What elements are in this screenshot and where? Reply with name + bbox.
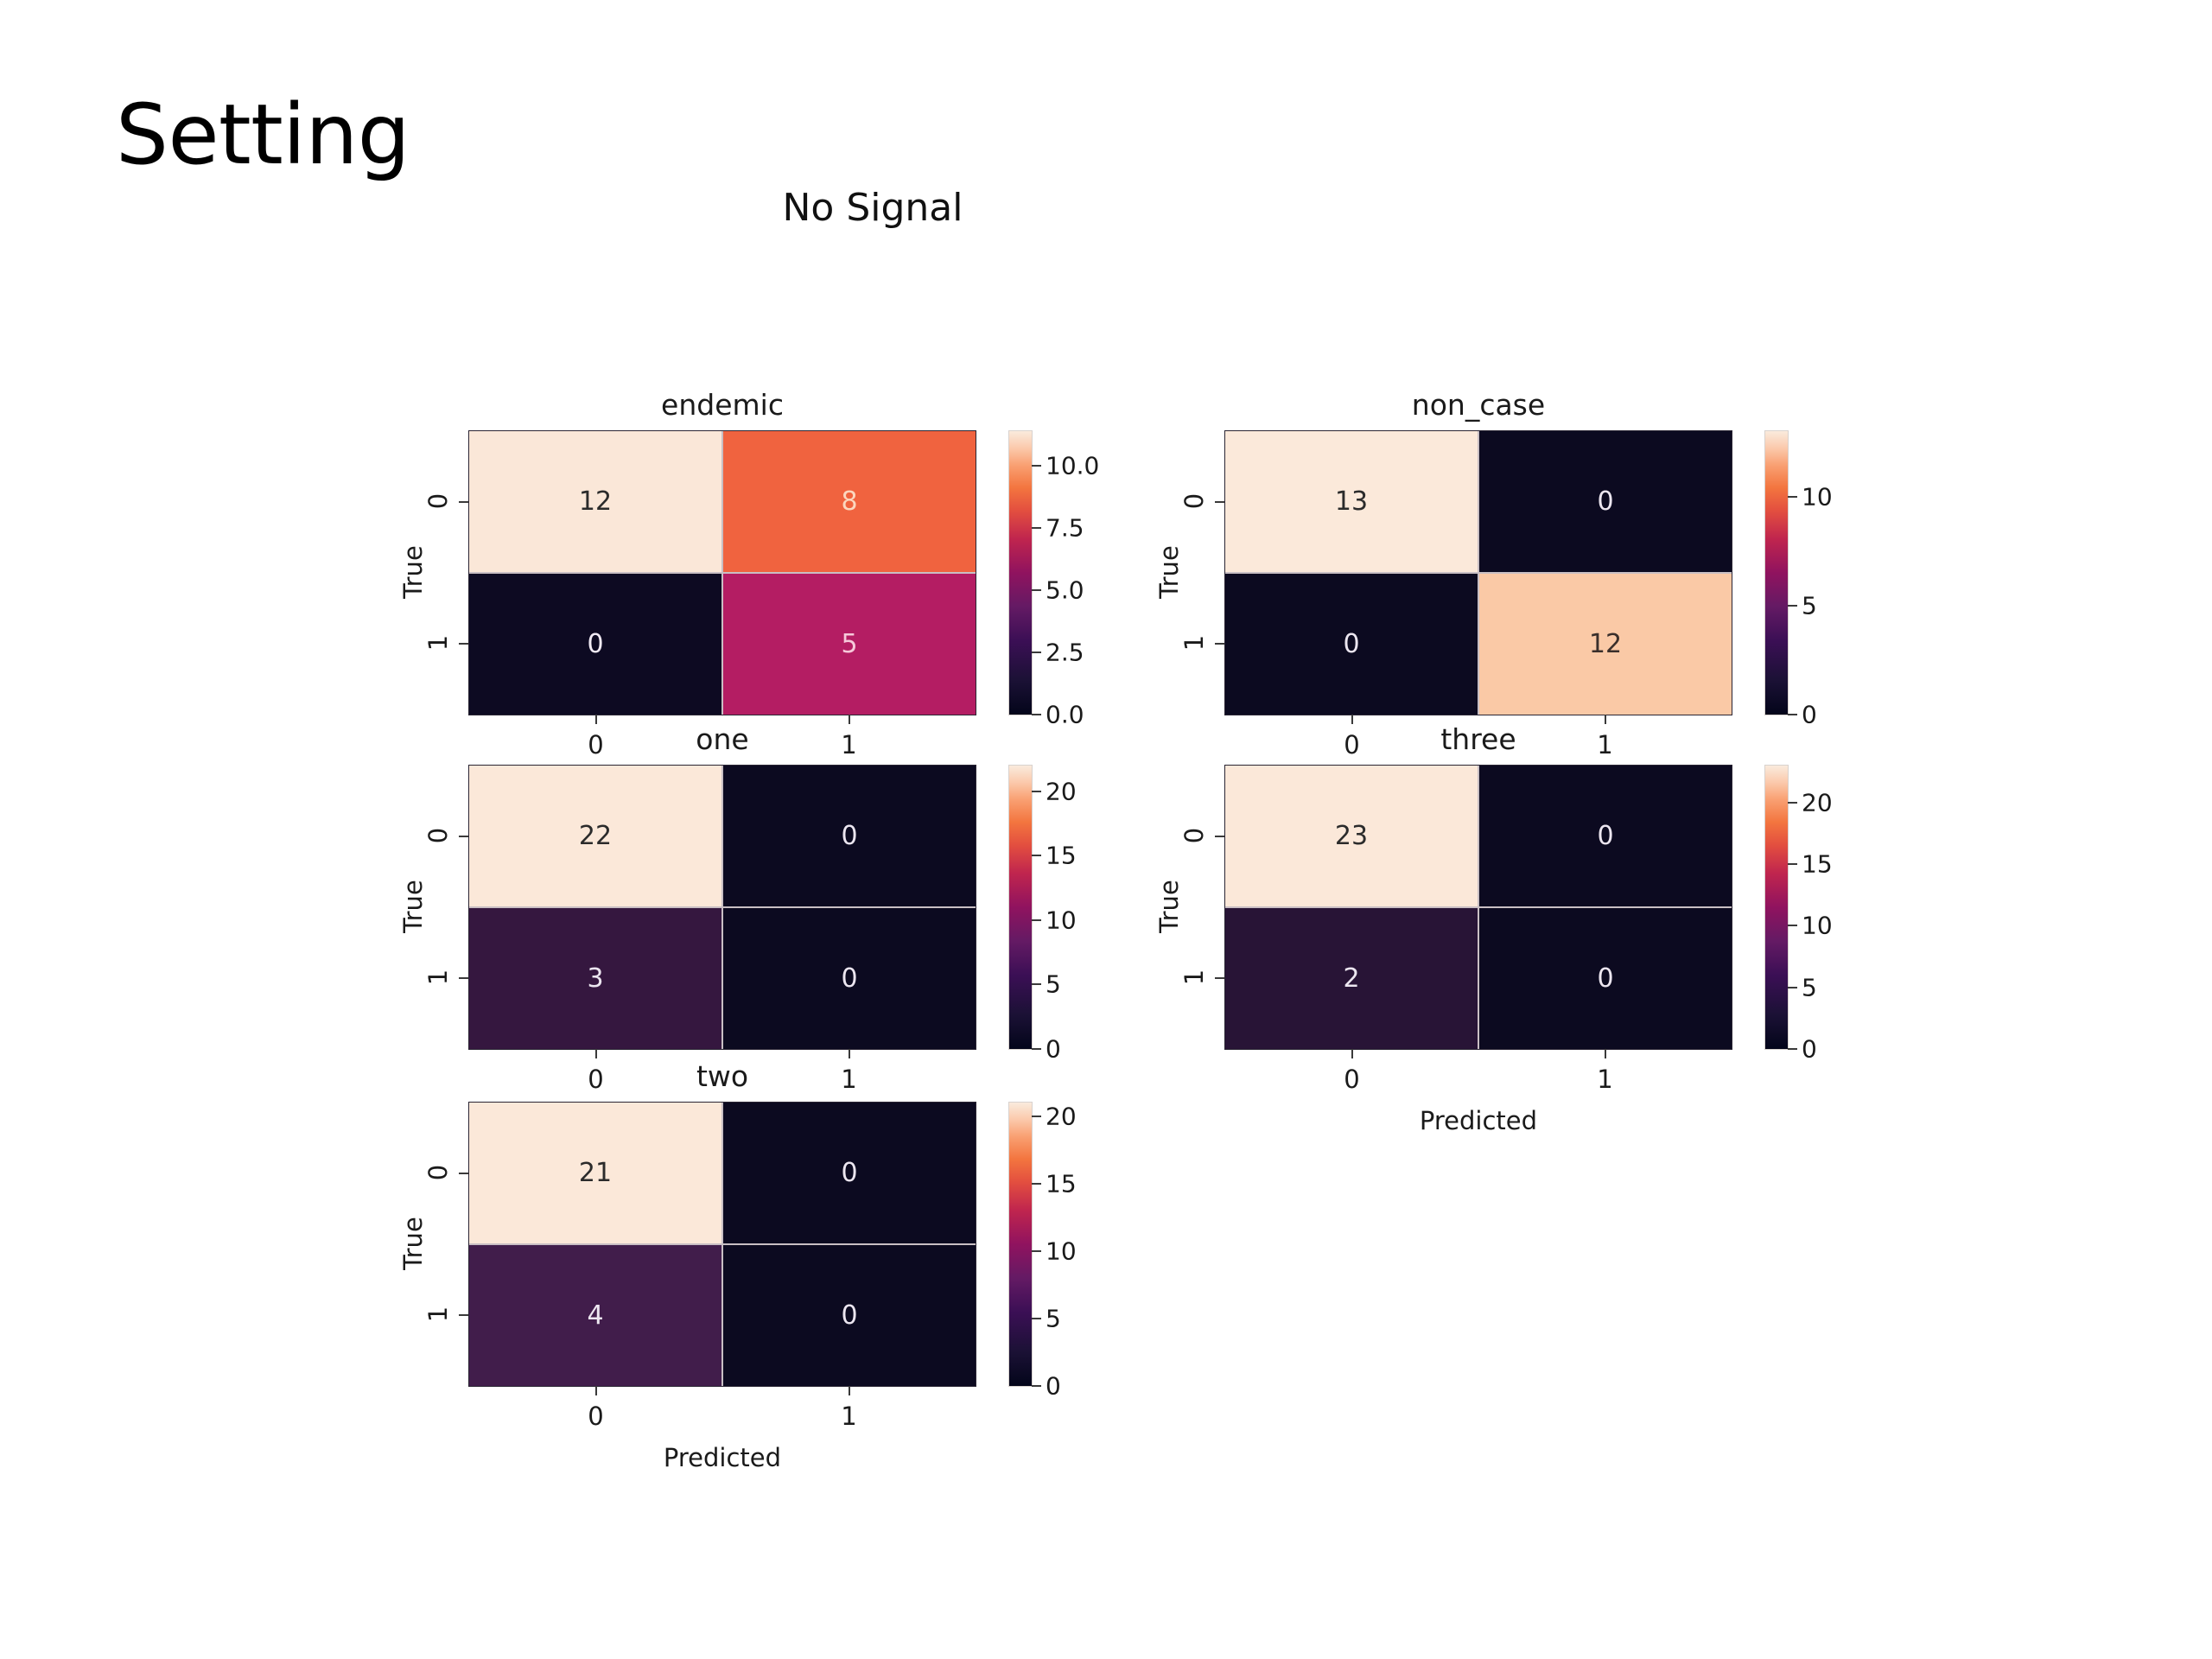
colorbar-tick-label-7.5: 7.5 xyxy=(1046,514,1084,543)
colorbar-tick-mark xyxy=(1032,983,1041,985)
colorbar-tick-mark xyxy=(1032,1116,1041,1117)
heatmap-panel-non_case: non_case13001201True01Predicted xyxy=(1225,431,1732,715)
colorbar-tick-label-5: 5 xyxy=(1046,1304,1061,1332)
heatmap-grid: 12805 xyxy=(469,431,976,715)
heatmap-cell-1-0: 0 xyxy=(469,574,721,715)
heatmap-cell-0-1: 0 xyxy=(723,766,976,906)
heatmap-cell-1-1: 12 xyxy=(1479,574,1732,715)
y-tick-label-1: 1 xyxy=(423,627,453,658)
y-tick-mark xyxy=(1215,977,1224,979)
y-axis-label: True xyxy=(398,520,428,624)
colorbar-tick-label-5.0: 5.0 xyxy=(1046,576,1084,605)
colorbar-tick-label-20: 20 xyxy=(1802,788,1833,817)
y-tick-mark xyxy=(459,836,468,837)
x-tick-label-0: 0 xyxy=(588,1402,603,1431)
colorbar-tick-mark xyxy=(1788,802,1797,804)
y-axis-label: True xyxy=(398,1192,428,1295)
colorbar-tick-mark xyxy=(1032,589,1041,591)
colorbar-tick-mark xyxy=(1032,465,1041,467)
heatmap-cell-0-1: 8 xyxy=(723,431,976,572)
heatmap-cell-0-0: 22 xyxy=(469,766,721,906)
x-tick-label-1: 1 xyxy=(841,1402,856,1431)
heatmap-panel-one: one2203001True01Predicted xyxy=(469,766,976,1049)
colorbar-tick-mark xyxy=(1788,1048,1797,1050)
y-axis-label: True xyxy=(1154,520,1184,624)
heatmap-grid: 23020 xyxy=(1225,766,1732,1049)
panel-title-three: three xyxy=(1225,722,1732,756)
colorbar-tick-label-20: 20 xyxy=(1046,1102,1077,1130)
colorbar-tick-mark xyxy=(1032,527,1041,529)
colorbar-tick-mark xyxy=(1032,919,1041,921)
panel-title-two: two xyxy=(469,1059,976,1093)
y-tick-label-1: 1 xyxy=(1179,962,1209,993)
colorbar-tick-label-10: 10 xyxy=(1802,482,1833,511)
colorbar-tick-label-0: 0 xyxy=(1802,1035,1817,1064)
colorbar-tick-label-10.0: 10.0 xyxy=(1046,452,1099,480)
heatmap-cell-1-0: 2 xyxy=(1225,908,1478,1049)
y-tick-mark xyxy=(459,1314,468,1316)
y-tick-mark xyxy=(459,1173,468,1174)
y-tick-mark xyxy=(1215,836,1224,837)
x-axis-label: Predicted xyxy=(469,1443,976,1472)
colorbar-tick-label-0.0: 0.0 xyxy=(1046,701,1084,729)
x-tick-mark xyxy=(595,1049,597,1058)
colorbar-tick-mark xyxy=(1788,605,1797,607)
heatmap-cell-1-1: 0 xyxy=(1479,908,1732,1049)
panel-title-one: one xyxy=(469,722,976,756)
colorbar-tick-mark xyxy=(1788,987,1797,988)
colorbar-tick-mark xyxy=(1032,1250,1041,1252)
y-axis-label: True xyxy=(398,855,428,958)
panel-title-non_case: non_case xyxy=(1225,388,1732,422)
y-tick-label-0: 0 xyxy=(423,1157,453,1188)
colorbar-tick-label-20: 20 xyxy=(1046,777,1077,805)
colorbar-endemic: 0.02.55.07.510.0 xyxy=(1009,431,1032,715)
y-tick-mark xyxy=(459,977,468,979)
heatmap-cell-1-1: 0 xyxy=(723,908,976,1049)
colorbar-tick-mark xyxy=(1032,1183,1041,1185)
confusion-matrix-figure: endemic1280501True01Predicted0.02.55.07.… xyxy=(0,0,2212,1659)
heatmap-cell-0-0: 23 xyxy=(1225,766,1478,906)
colorbar-three: 05101520 xyxy=(1765,766,1788,1049)
colorbar-tick-mark xyxy=(1032,1385,1041,1387)
heatmap-cell-0-1: 0 xyxy=(723,1103,976,1243)
x-tick-label-0: 0 xyxy=(1344,1065,1359,1094)
y-axis-label: True xyxy=(1154,855,1184,958)
colorbar-tick-mark xyxy=(1032,1048,1041,1050)
heatmap-cell-1-1: 5 xyxy=(723,574,976,715)
heatmap-cell-1-0: 3 xyxy=(469,908,721,1049)
colorbar-tick-mark xyxy=(1032,652,1041,653)
heatmap-cell-0-0: 21 xyxy=(469,1103,721,1243)
colorbar-tick-label-0: 0 xyxy=(1046,1035,1061,1064)
y-tick-mark xyxy=(459,501,468,503)
heatmap-cell-0-0: 12 xyxy=(469,431,721,572)
colorbar-tick-label-0: 0 xyxy=(1802,701,1817,729)
x-tick-mark xyxy=(849,1049,850,1058)
x-tick-label-1: 1 xyxy=(1597,1065,1612,1094)
colorbar-tick-mark xyxy=(1788,925,1797,926)
x-tick-mark xyxy=(849,1386,850,1395)
heatmap-grid: 22030 xyxy=(469,766,976,1049)
heatmap-cell-0-1: 0 xyxy=(1479,766,1732,906)
y-tick-label-1: 1 xyxy=(1179,627,1209,658)
y-tick-mark xyxy=(1215,501,1224,503)
heatmap-cell-1-1: 0 xyxy=(723,1245,976,1386)
colorbar-tick-label-0: 0 xyxy=(1046,1372,1061,1401)
heatmap-panel-endemic: endemic1280501True01Predicted xyxy=(469,431,976,715)
heatmap-grid: 21040 xyxy=(469,1103,976,1386)
y-tick-mark xyxy=(1215,643,1224,645)
x-tick-mark xyxy=(1605,1049,1606,1058)
colorbar-tick-label-5: 5 xyxy=(1802,973,1817,1001)
y-tick-mark xyxy=(459,643,468,645)
y-tick-label-0: 0 xyxy=(423,486,453,517)
x-axis-label: Predicted xyxy=(1225,1106,1732,1135)
y-tick-label-0: 0 xyxy=(1179,820,1209,851)
colorbar-tick-mark xyxy=(1032,1318,1041,1319)
colorbar-two: 05101520 xyxy=(1009,1103,1032,1386)
panel-title-endemic: endemic xyxy=(469,388,976,422)
heatmap-grid: 130012 xyxy=(1225,431,1732,715)
heatmap-panel-two: two2104001True01Predicted xyxy=(469,1103,976,1386)
colorbar-tick-label-15: 15 xyxy=(1046,842,1077,870)
colorbar-tick-label-2.5: 2.5 xyxy=(1046,639,1084,667)
colorbar-tick-mark xyxy=(1032,714,1041,715)
colorbar-tick-mark xyxy=(1788,496,1797,498)
colorbar-tick-mark xyxy=(1788,714,1797,715)
colorbar-tick-label-10: 10 xyxy=(1046,1236,1077,1265)
heatmap-cell-1-0: 4 xyxy=(469,1245,721,1386)
colorbar-tick-label-10: 10 xyxy=(1046,906,1077,934)
heatmap-cell-0-1: 0 xyxy=(1479,431,1732,572)
x-tick-mark xyxy=(595,1386,597,1395)
colorbar-tick-label-5: 5 xyxy=(1046,970,1061,999)
colorbar-tick-label-15: 15 xyxy=(1046,1169,1077,1198)
heatmap-cell-1-0: 0 xyxy=(1225,574,1478,715)
y-tick-label-0: 0 xyxy=(1179,486,1209,517)
colorbar-tick-mark xyxy=(1788,863,1797,865)
x-tick-mark xyxy=(1351,1049,1353,1058)
heatmap-cell-0-0: 13 xyxy=(1225,431,1478,572)
y-tick-label-1: 1 xyxy=(423,962,453,993)
y-tick-label-0: 0 xyxy=(423,820,453,851)
colorbar-tick-mark xyxy=(1032,855,1041,856)
colorbar-tick-label-10: 10 xyxy=(1802,912,1833,940)
y-tick-label-1: 1 xyxy=(423,1299,453,1330)
colorbar-one: 05101520 xyxy=(1009,766,1032,1049)
colorbar-tick-label-15: 15 xyxy=(1802,850,1833,879)
colorbar-tick-mark xyxy=(1032,791,1041,792)
heatmap-panel-three: three2302001True01Predicted xyxy=(1225,766,1732,1049)
colorbar-non_case: 0510 xyxy=(1765,431,1788,715)
colorbar-tick-label-5: 5 xyxy=(1802,591,1817,620)
